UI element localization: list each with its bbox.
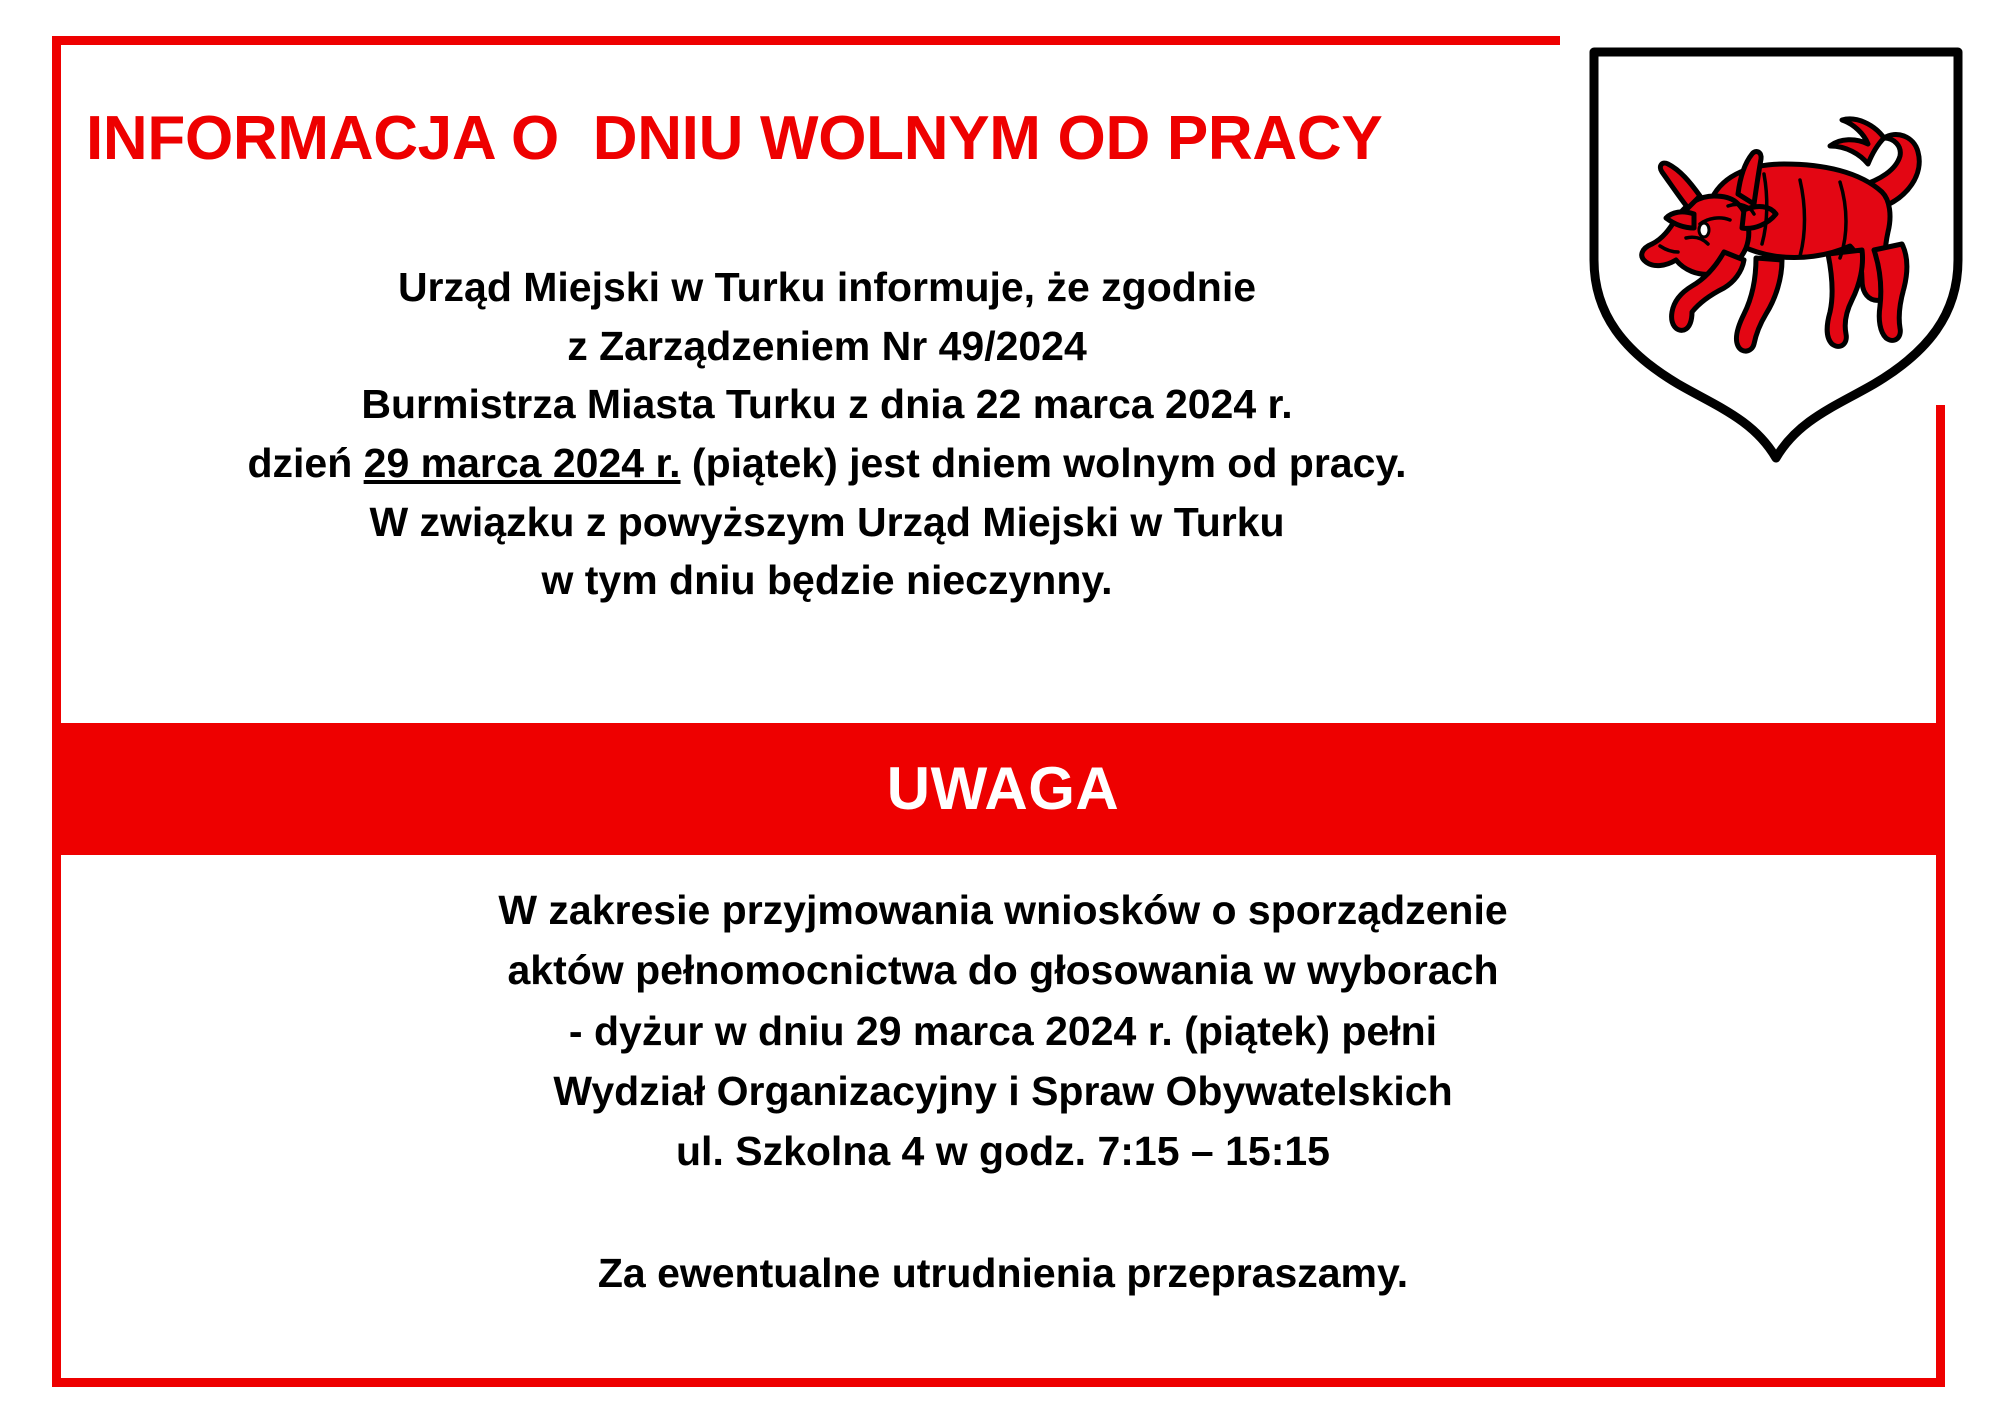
upper-line-1: Urząd Miejski w Turku informuje, że zgod… bbox=[62, 258, 1592, 317]
lower-line-2: aktów pełnomocnictwa do głosowania w wyb… bbox=[61, 940, 1945, 1000]
upper-text-block: Urząd Miejski w Turku informuje, że zgod… bbox=[62, 258, 1592, 610]
page-title: INFORMACJA O DNIU WOLNYM OD PRACY bbox=[86, 108, 1536, 170]
lower-line-5: ul. Szkolna 4 w godz. 7:15 – 15:15 bbox=[61, 1121, 1945, 1181]
upper-line-3: Burmistrza Miasta Turku z dnia 22 marca … bbox=[62, 375, 1592, 434]
upper-line-4-pre: dzień bbox=[247, 440, 363, 486]
free-day-date: 29 marca 2024 r. bbox=[364, 440, 681, 486]
frame-border-top bbox=[52, 36, 1560, 45]
lower-line-4: Wydział Organizacyjny i Spraw Obywatelsk… bbox=[61, 1061, 1945, 1121]
upper-line-4: dzień 29 marca 2024 r. (piątek) jest dni… bbox=[62, 434, 1592, 493]
frame-border-left bbox=[52, 36, 61, 1387]
upper-line-4-post: (piątek) jest dniem wolnym od pracy. bbox=[681, 440, 1407, 486]
upper-line-5: W związku z powyższym Urząd Miejski w Tu… bbox=[62, 493, 1592, 552]
apology-line: Za ewentualne utrudnienia przepraszamy. bbox=[61, 1243, 1945, 1303]
attention-banner-label: UWAGA bbox=[887, 759, 1119, 819]
attention-banner: UWAGA bbox=[61, 723, 1945, 855]
lower-line-1: W zakresie przyjmowania wniosków o sporz… bbox=[61, 880, 1945, 940]
upper-line-2: z Zarządzeniem Nr 49/2024 bbox=[62, 317, 1592, 376]
frame-border-bottom bbox=[52, 1378, 1945, 1387]
lower-text-block: W zakresie przyjmowania wniosków o sporz… bbox=[61, 880, 1945, 1304]
lower-line-3: - dyżur w dniu 29 marca 2024 r. (piątek)… bbox=[61, 1001, 1945, 1061]
announcement-poster: INFORMACJA O DNIU WOLNYM OD PRACY Urząd … bbox=[0, 0, 2000, 1414]
paragraph-spacer bbox=[61, 1181, 1945, 1243]
coat-of-arms-icon bbox=[1588, 46, 1964, 466]
upper-line-6: w tym dniu będzie nieczynny. bbox=[62, 551, 1592, 610]
